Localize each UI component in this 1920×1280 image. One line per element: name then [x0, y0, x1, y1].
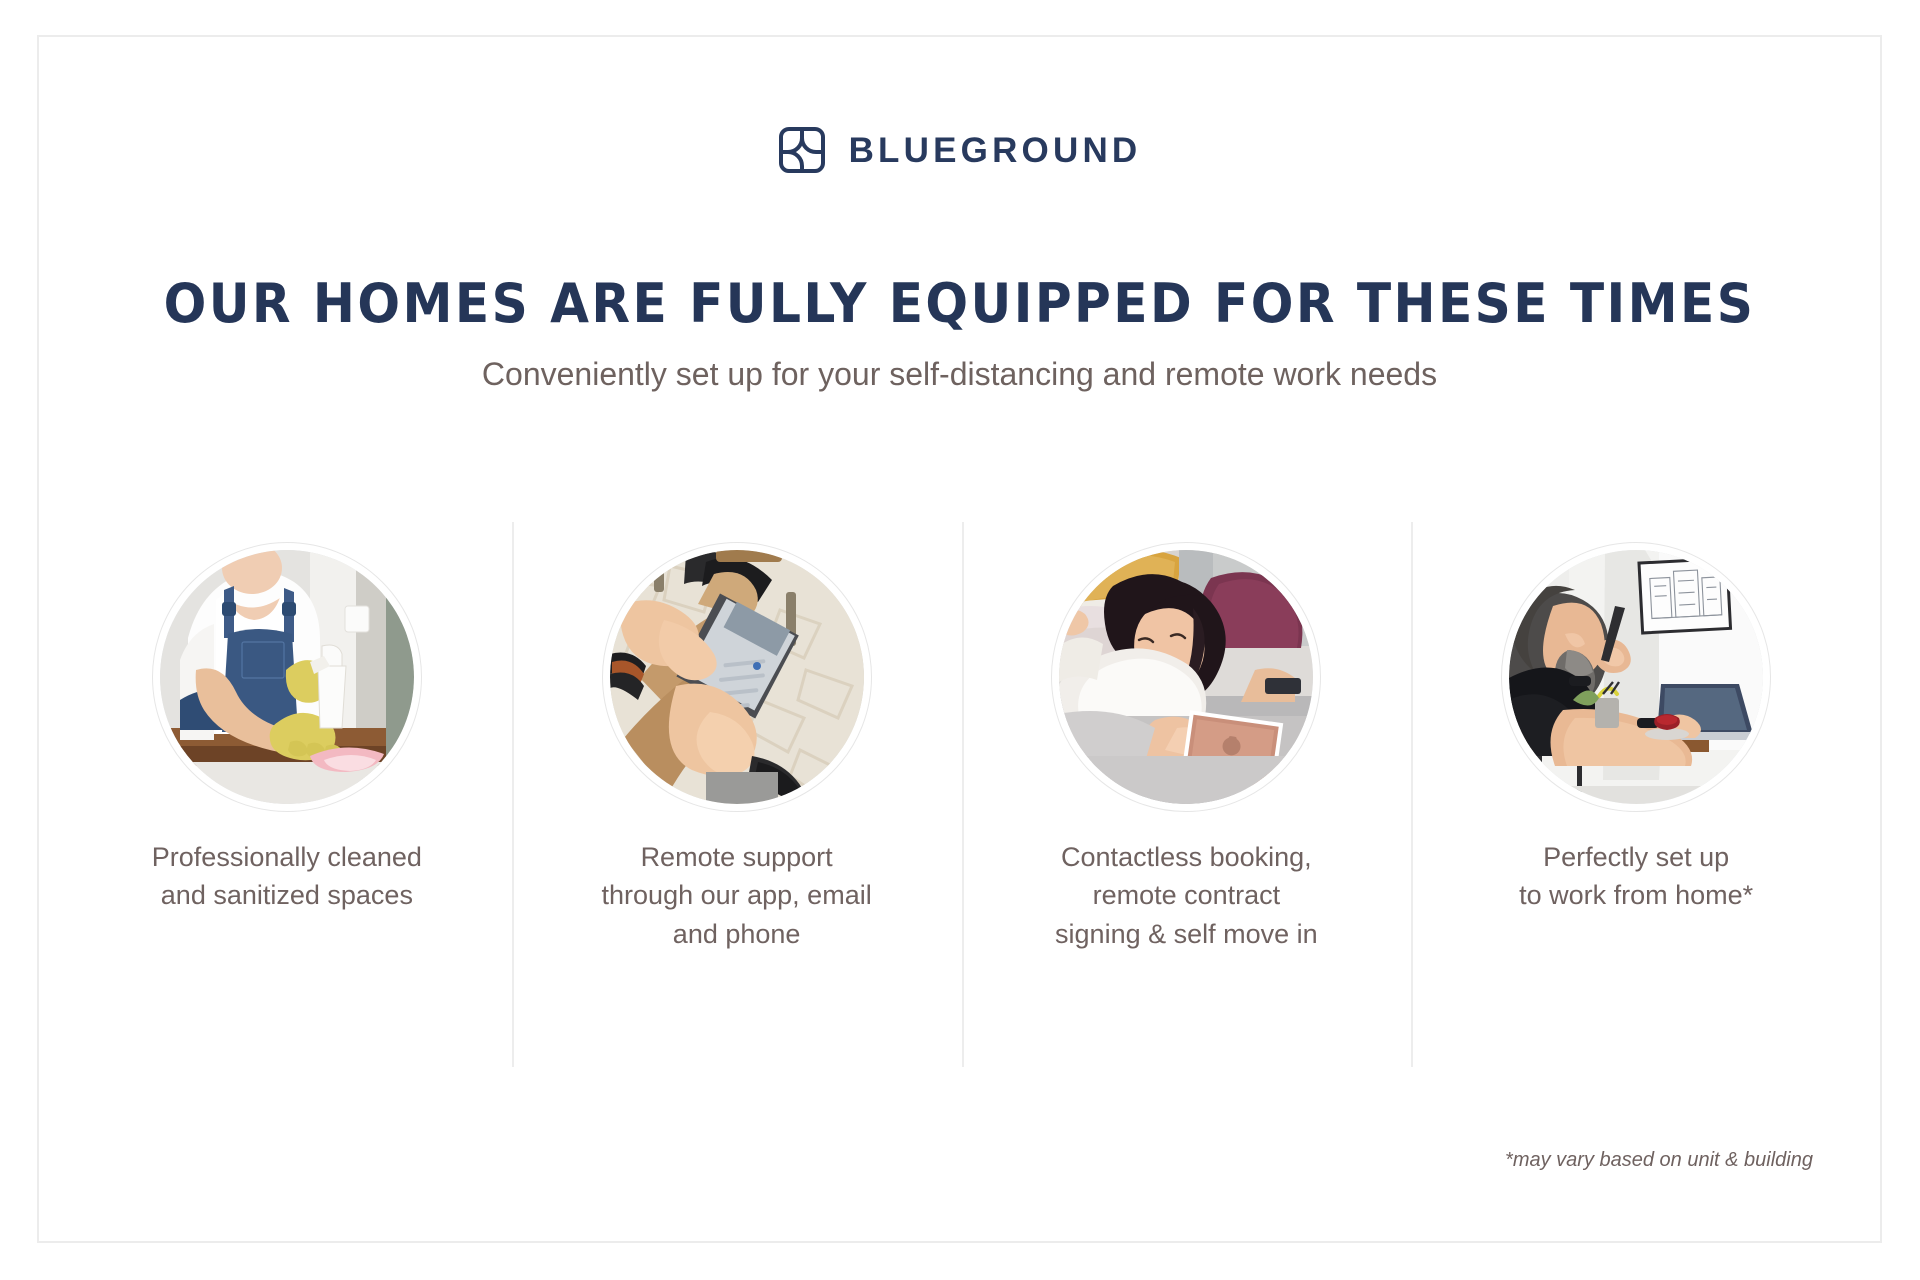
footnote-disclaimer: *may vary based on unit & building [1505, 1149, 1813, 1172]
brand-wordmark: BLUEGROUND [849, 133, 1142, 168]
photo-professionally-cleaned [160, 550, 414, 804]
brand-lockup: BLUEGROUND [39, 126, 1880, 174]
feature-item-work-from-home: Perfectly set up to work from home* [1411, 522, 1861, 1067]
feature-photo-wrap [160, 550, 414, 804]
feature-item-remote-support: Remote support through our app, email an… [512, 522, 962, 1067]
photo-remote-support [610, 550, 864, 804]
page-title: OUR HOMES ARE FULLY EQUIPPED FOR THESE T… [103, 275, 1815, 333]
photo-work-from-home [1509, 550, 1763, 804]
page-subtitle: Conveniently set up for your self-distan… [39, 354, 1880, 396]
feature-caption: Perfectly set up to work from home* [1509, 838, 1763, 915]
feature-item-cleaning: Professionally cleaned and sanitized spa… [62, 522, 512, 1067]
photo-contactless-booking [1059, 550, 1313, 804]
feature-photo-wrap [610, 550, 864, 804]
feature-photo-wrap [1059, 550, 1313, 804]
feature-caption: Remote support through our app, email an… [592, 838, 882, 953]
feature-item-contactless-booking: Contactless booking, remote contract sig… [962, 522, 1412, 1067]
feature-columns: Professionally cleaned and sanitized spa… [62, 522, 1861, 1067]
poster-card: BLUEGROUND OUR HOMES ARE FULLY EQUIPPED … [37, 35, 1882, 1243]
blueground-square-mark-icon [778, 126, 826, 174]
feature-caption: Contactless booking, remote contract sig… [1045, 838, 1328, 953]
feature-caption: Professionally cleaned and sanitized spa… [142, 838, 432, 915]
feature-photo-wrap [1509, 550, 1763, 804]
